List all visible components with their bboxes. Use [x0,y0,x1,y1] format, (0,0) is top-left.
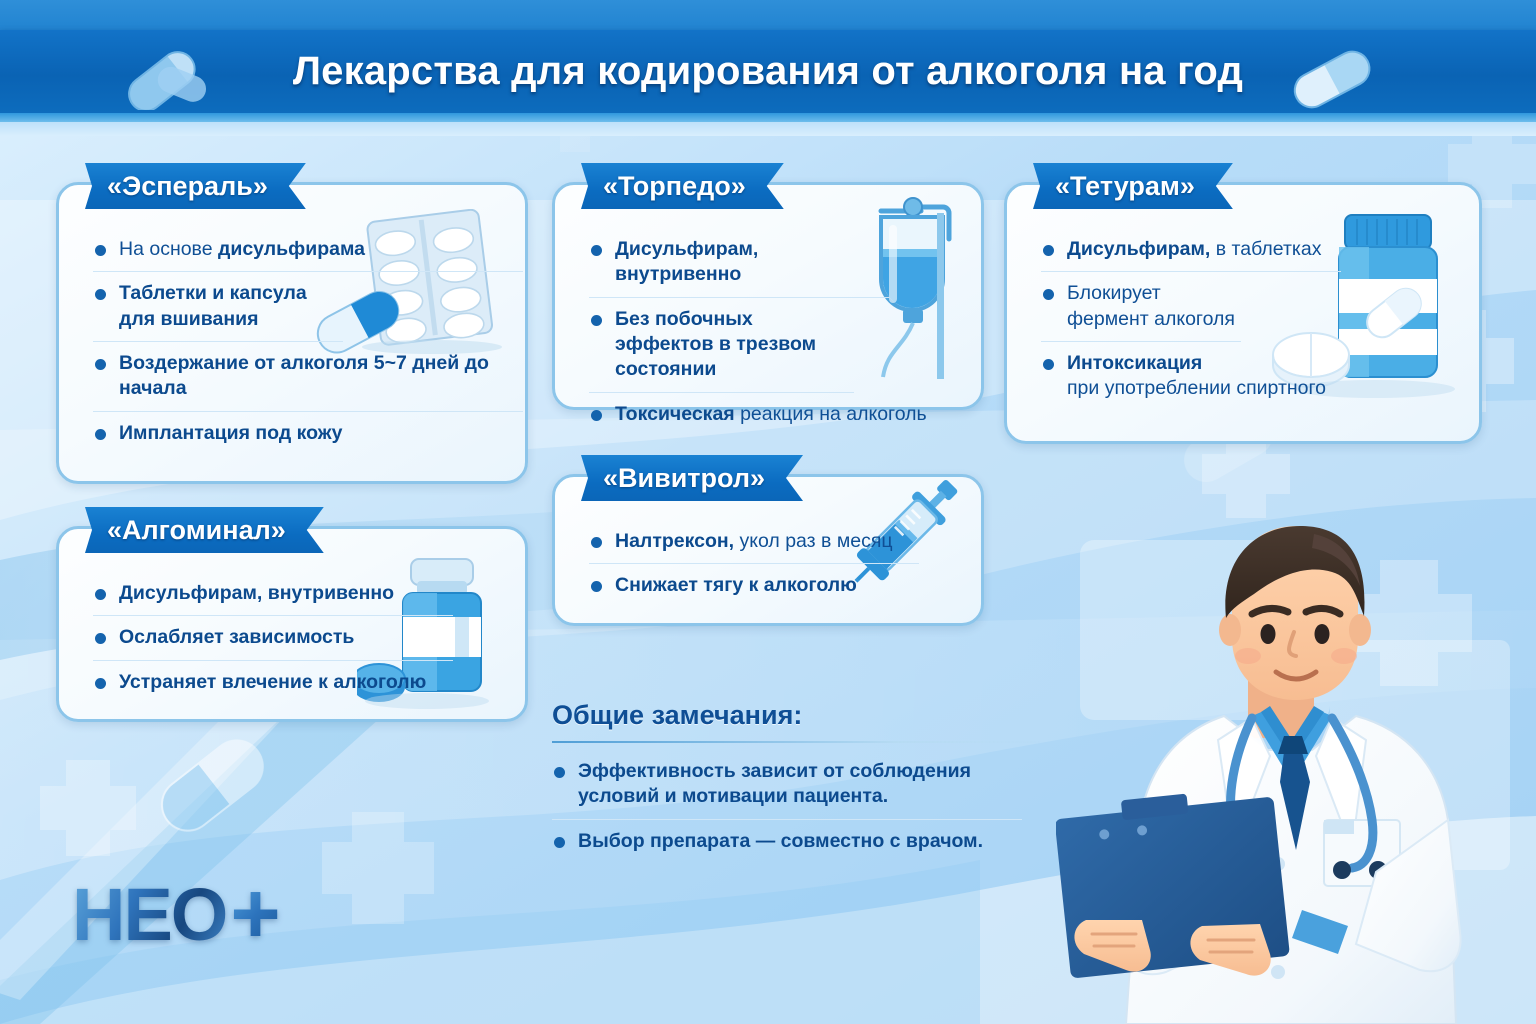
header-lower-strip [0,122,1536,136]
card-title-vivitrol: «Вивитрол» [581,455,803,501]
list-item: Блокирует фермент алкоголя [1041,281,1241,342]
card-title-esperal: «Эспераль» [85,163,306,209]
list-item: Токсическая реакция на алкоголь [589,402,959,427]
card-teturam-list: Дисульфирам, в таблетках Блокирует ферме… [1041,237,1341,402]
list-item: Ослабляет зависимость [93,625,453,660]
logo-text: НЕО [72,872,226,957]
list-item: Снижает тягу к алкоголю [589,573,919,598]
list-item: Дисульфирам, в таблетках [1041,237,1341,272]
capsule-icon [122,48,208,115]
card-title-teturam: «Тетурам» [1033,163,1233,209]
doctor-illustration [1056,520,1526,1024]
list-item: Без побочных эффектов в трезвом состояни… [589,307,854,393]
card-vivitrol: «Вивитрол» [552,474,984,626]
card-title-torpedo: «Торпедо» [581,163,784,209]
card-esperal: «Эспераль» [56,182,528,484]
card-vivitrol-list: Налтрексон, укол раз в месяц Снижает тяг… [589,529,919,599]
list-item: На основе дисульфирама [93,237,523,272]
page-title: Лекарства для кодирования от алкоголя на… [293,49,1243,94]
notes-divider [552,741,1042,743]
list-item: Устраняет влечение к алкоголю [93,670,453,695]
list-item: Интоксикация при употреблении спиртного [1041,351,1371,402]
logo-plus-icon: + [230,880,278,949]
notes-list: Эффективность зависит от соблюдения усло… [552,759,1022,854]
notes-title: Общие замечания: [552,700,1072,731]
card-algominal: «Алгоминал» Дисульфирам, внутривенно Осл… [56,526,528,722]
brand-logo: НЕО+ [72,872,279,957]
card-teturam: «Тетурам» [1004,182,1482,444]
card-algominal-list: Дисульфирам, внутривенно Ослабляет завис… [93,581,453,695]
general-notes-section: Общие замечания: Эффективность зависит о… [552,700,1072,854]
capsule-icon [1288,48,1378,115]
list-item: Дисульфирам, внутривенно [589,237,889,298]
card-torpedo-list: Дисульфирам, внутривенно Без побочных эф… [589,237,889,427]
list-item: Выбор препарата — совместно с врачом. [552,829,1022,854]
card-esperal-list: На основе дисульфирама Таблетки и капсул… [93,237,523,446]
card-torpedo: «Торпедо» Дисульфирам, внутривенно Без п… [552,182,984,410]
list-item: Воздержание от алкоголя 5~7 дней до нача… [93,351,523,412]
list-item: Дисульфирам, внутривенно [93,581,453,616]
list-item: Эффективность зависит от соблюдения усло… [552,759,1022,820]
list-item: Имплантация под кожу [93,421,523,446]
card-title-algominal: «Алгоминал» [85,507,324,553]
list-item: Таблетки и капсула для вшивания [93,281,343,342]
infographic-poster: Лекарства для кодирования от алкоголя на… [0,0,1536,1024]
list-item: Налтрексон, укол раз в месяц [589,529,919,564]
